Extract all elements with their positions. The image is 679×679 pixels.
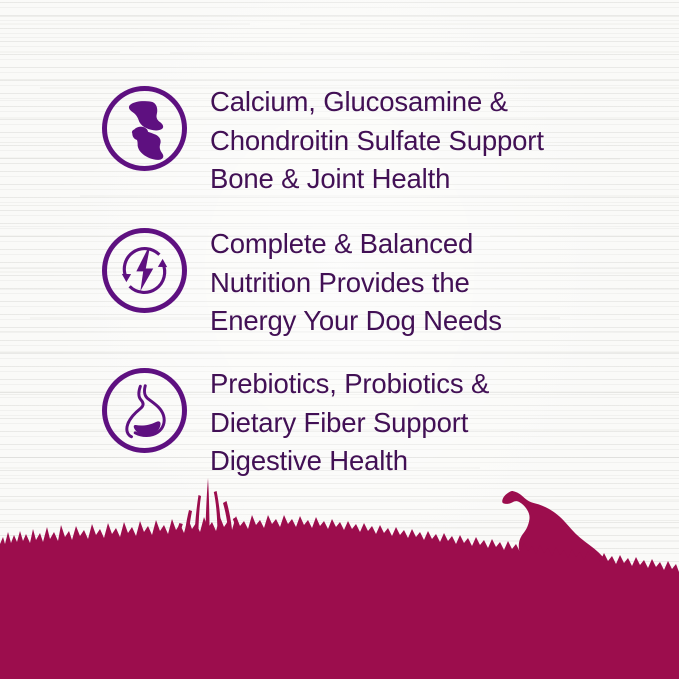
benefit-text: Prebiotics, Probiotics & Dietary Fiber S… <box>210 364 489 481</box>
benefit-row-energy: Complete & Balanced Nutrition Provides t… <box>98 224 638 341</box>
stomach-icon <box>98 364 191 457</box>
bottom-silhouette-scene <box>0 469 679 679</box>
energy-cycle-icon <box>98 224 191 317</box>
product-benefits-graphic: Calcium, Glucosamine & Chondroitin Sulfa… <box>0 0 679 679</box>
benefit-text: Calcium, Glucosamine & Chondroitin Sulfa… <box>210 82 544 199</box>
bone-joint-icon <box>98 82 191 175</box>
benefit-text: Complete & Balanced Nutrition Provides t… <box>210 224 502 341</box>
benefit-row-digestive: Prebiotics, Probiotics & Dietary Fiber S… <box>98 364 638 481</box>
benefit-row-bone-joint: Calcium, Glucosamine & Chondroitin Sulfa… <box>98 82 638 199</box>
